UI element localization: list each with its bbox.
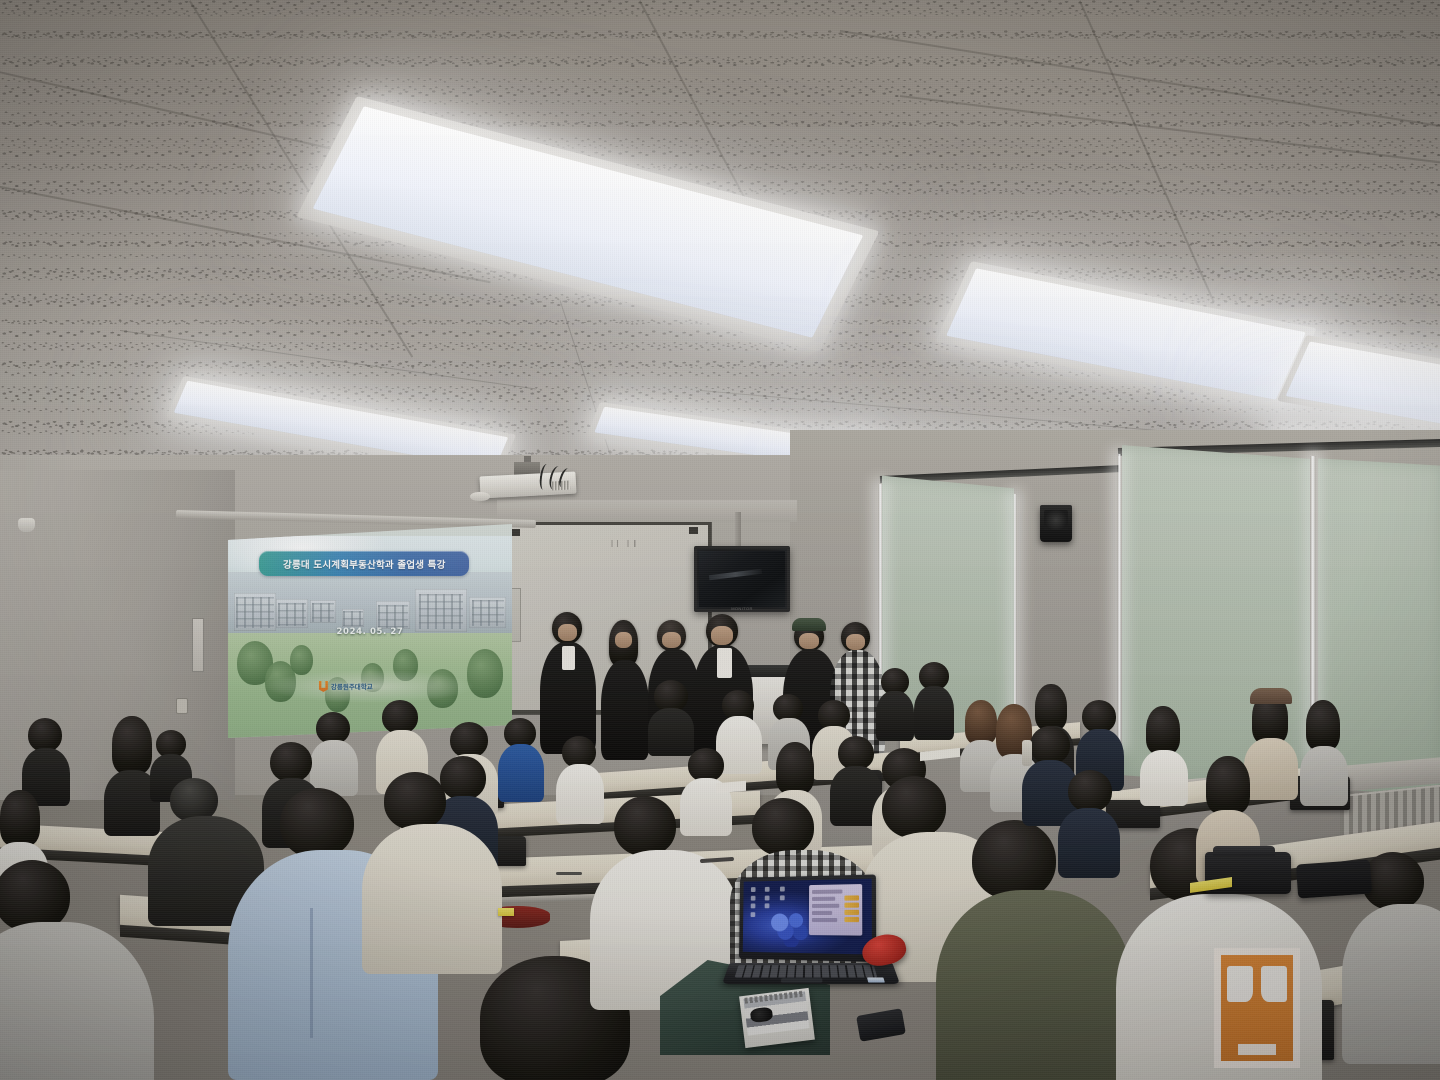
torso [1300,746,1348,806]
head [0,790,40,846]
slide-building [310,600,336,623]
torso [1058,808,1120,878]
torso [936,890,1132,1080]
presenter-face [846,634,865,650]
head [1206,756,1250,814]
head [776,742,814,794]
head [688,748,724,782]
blind-light-gap [1013,494,1017,730]
head [838,736,874,770]
blind-light-gap [1117,454,1122,746]
open-window-panel [809,884,862,935]
head [270,742,312,782]
head [1030,726,1070,764]
laptop [726,876,898,992]
slide-title-banner: 강릉대 도시계획부동산학과 졸업생 특강 [259,551,469,576]
presenter-body [601,660,649,760]
head [1068,770,1112,812]
front-wall-header-band [497,500,797,522]
monitor-brand-label: MONITOR [731,606,753,611]
presenter-collar [717,648,732,678]
head [965,700,997,744]
head [384,772,446,830]
whiteboard-writing [609,540,649,547]
slide-campus-buildings [228,572,512,633]
smartphone[interactable] [856,1008,906,1042]
torso [0,922,154,1080]
torso [914,686,954,740]
ceiling-projector [480,462,576,496]
head [972,820,1056,900]
presenter-cap-icon [792,618,826,631]
head [1306,700,1340,750]
sticky-note [498,908,514,916]
water-bottle [1022,740,1032,766]
slide-building [234,593,277,631]
slide-title-text: 강릉대 도시계획부동산학과 졸업생 특강 [283,557,446,571]
slide-building [276,599,307,628]
desk-pen [556,872,582,875]
presenter-face [799,633,819,649]
tshirt-graphic [1214,948,1300,1068]
laptop-sticker [867,977,885,982]
laptop-keyboard[interactable] [735,965,878,977]
whiteboard-clip [689,527,698,534]
presenter-face [558,624,577,641]
slide-logo-text: 강릉원주대학교 [331,681,373,691]
presenter-face [662,632,681,648]
head [440,756,486,800]
projection-screen: 강릉대 도시계획부동산학과 졸업생 특강 2024. 05. 27 강릉원주대학… [200,524,512,738]
head [882,776,946,838]
slide-building [415,589,466,631]
torso [648,708,694,756]
head [28,718,62,752]
cap-icon [1250,688,1292,704]
laptop-base[interactable] [722,963,900,984]
slide-date-text: 2024. 05. 27 [228,627,512,637]
presenter-collar [562,646,575,670]
ceiling-smoke-detector [470,492,490,501]
head [382,700,418,734]
slide-building [469,597,506,629]
slide-building [376,601,410,629]
wall-speaker [1040,505,1072,542]
torso [1140,750,1188,806]
head [450,722,488,758]
presenter-face [711,626,733,645]
torso [876,691,914,741]
monitor-reflection [709,569,763,580]
wall-outlet [176,698,188,714]
torso [362,824,502,974]
head [752,798,814,856]
slide-building [342,609,365,627]
lecture-hall-photo: 강릉대 도시계획부동산학과 졸업생 특강 2024. 05. 27 강릉원주대학… [0,0,1440,1080]
university-crest-icon [319,681,328,692]
monitor-screen [699,551,785,607]
wall-monitor: MONITOR [694,546,790,612]
head [614,796,676,856]
slide-university-logo: 강릉원주대학교 [319,677,421,695]
whiteboard-clip [511,529,520,536]
torso [498,744,544,802]
head [112,716,152,774]
presentation-slide: 강릉대 도시계획부동산학과 졸업생 특강 2024. 05. 27 강릉원주대학… [228,536,512,738]
head [1035,684,1067,730]
head [280,788,354,858]
torso [1244,738,1298,800]
laptop-lid [739,874,876,962]
head [1146,706,1180,754]
laptop-screen [743,879,872,955]
smoke-detector-icon [18,518,35,532]
desk-bag [1296,859,1372,898]
shirt-seam [310,908,313,1038]
textbook [739,988,815,1048]
torso [1342,904,1440,1064]
presenter-face [615,632,632,648]
laptop-trackpad[interactable] [781,978,823,983]
torso [556,764,604,824]
